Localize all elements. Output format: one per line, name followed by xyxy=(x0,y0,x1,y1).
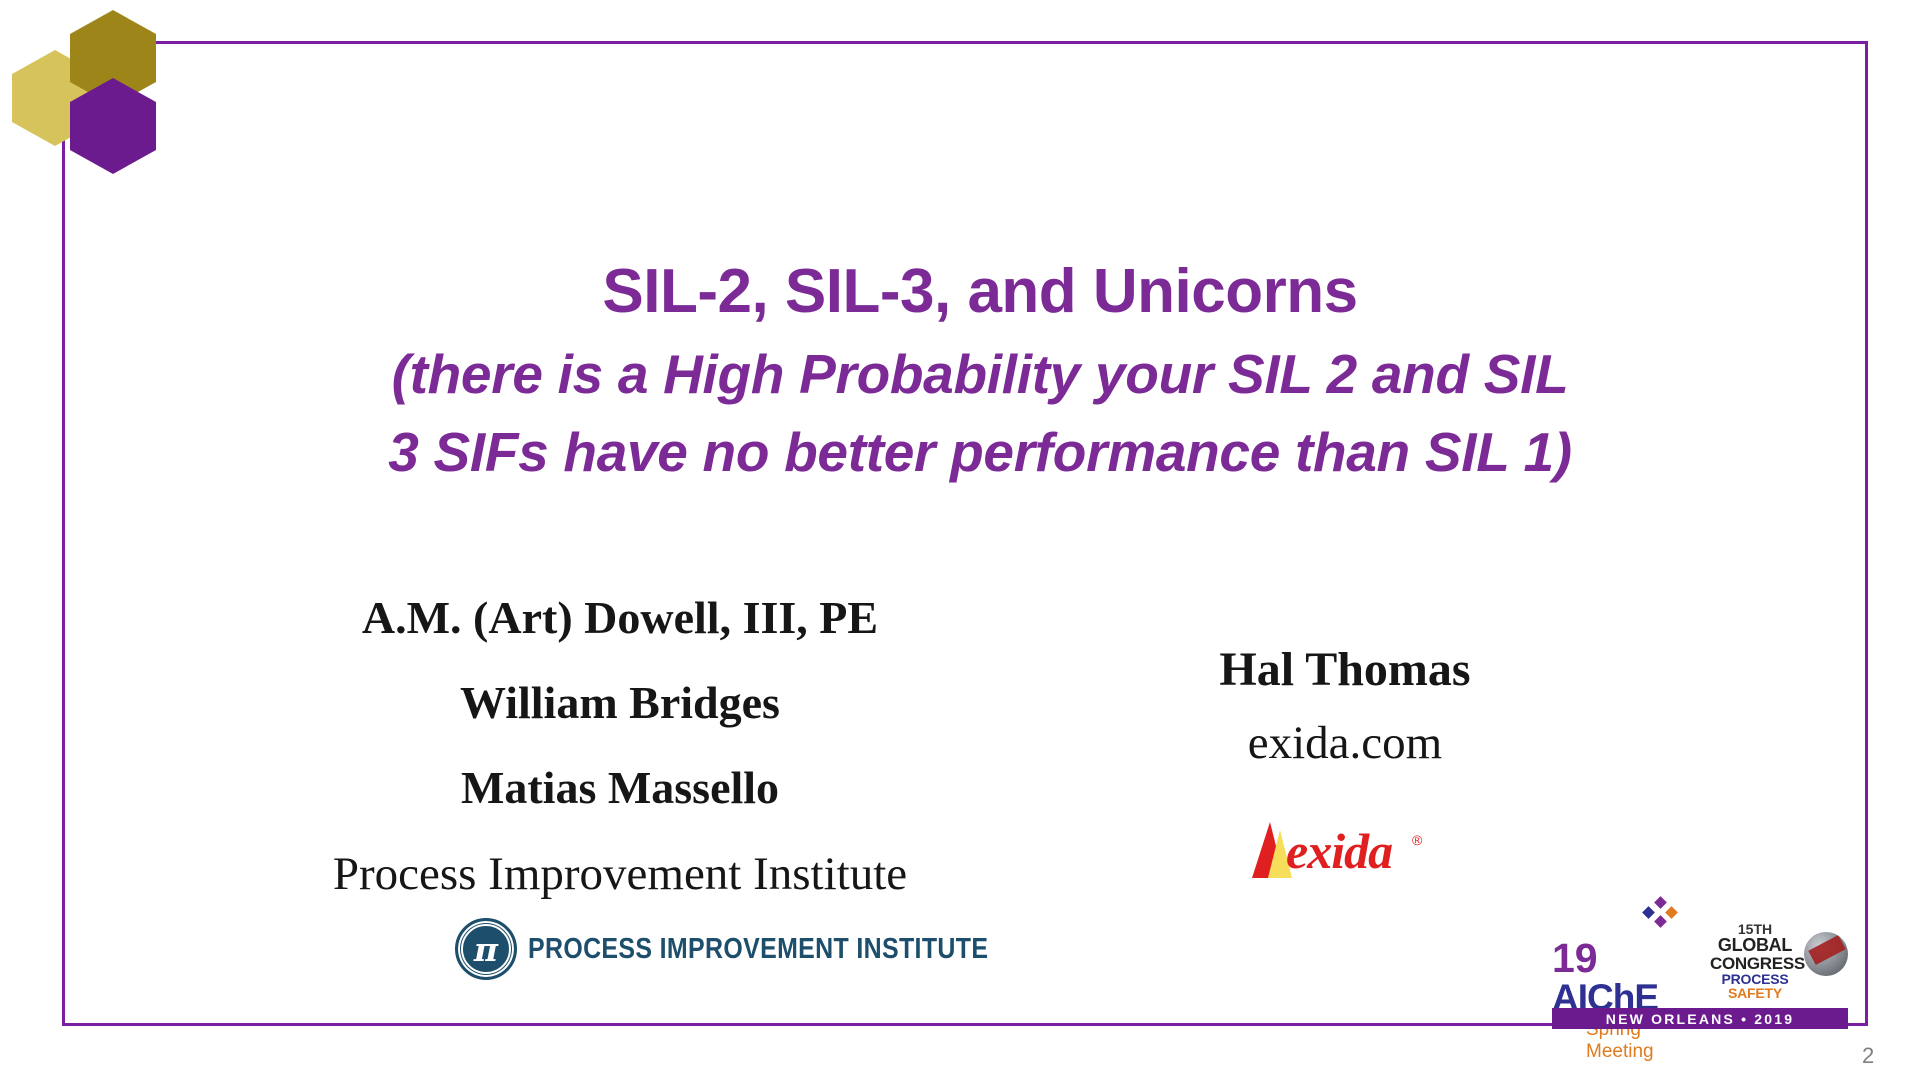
subtitle-line-1: (there is a High Probability your SIL 2 … xyxy=(175,335,1785,413)
organization-name: Process Improvement Institute xyxy=(215,830,1025,918)
aiche-diamond-cluster-icon xyxy=(1644,898,1678,922)
pi-symbol-icon: π xyxy=(455,918,517,980)
pii-logo-text: PROCESS IMPROVEMENT INSTITUTE xyxy=(528,933,988,966)
aiche-spring-meeting-logo: 19AIChE Spring Meeting xyxy=(1552,938,1702,1063)
congress-safety-label: SAFETY xyxy=(1710,986,1800,1000)
conference-location-bar: NEW ORLEANS • 2019 xyxy=(1552,1008,1848,1029)
subtitle-line-2: 3 SIFs have no better performance than S… xyxy=(175,413,1785,491)
pi-glyph: π xyxy=(474,933,498,966)
authors-right-column: Hal Thomas exida.com xyxy=(1050,640,1640,786)
exida-wordmark: exida xyxy=(1286,826,1392,876)
frame-border-left xyxy=(62,100,65,1026)
company-website: exida.com xyxy=(1050,700,1640,786)
congress-global-label: GLOBAL xyxy=(1710,936,1800,954)
process-improvement-institute-logo: π PROCESS IMPROVEMENT INSTITUTE xyxy=(455,918,1063,980)
author-name: A.M. (Art) Dowell, III, PE xyxy=(215,575,1025,660)
globe-sweep xyxy=(1808,935,1846,965)
frame-border-right xyxy=(1865,41,1868,1026)
author-name: Hal Thomas xyxy=(1050,640,1640,700)
slide-canvas: SIL-2, SIL-3, and Unicorns (there is a H… xyxy=(0,0,1920,1080)
author-name: Matias Massello xyxy=(215,745,1025,830)
title-block: SIL-2, SIL-3, and Unicorns (there is a H… xyxy=(175,255,1785,491)
globe-icon xyxy=(1804,932,1848,976)
congress-edition: 15TH xyxy=(1710,922,1800,936)
congress-process-label: PROCESS xyxy=(1710,972,1800,986)
author-name: William Bridges xyxy=(215,660,1025,745)
slide-title: SIL-2, SIL-3, and Unicorns xyxy=(175,255,1785,329)
exida-logo: exida ® xyxy=(1252,820,1452,882)
frame-border-top xyxy=(138,41,1868,44)
slide-subtitle: (there is a High Probability your SIL 2 … xyxy=(175,335,1785,491)
authors-left-column: A.M. (Art) Dowell, III, PE William Bridg… xyxy=(215,575,1025,918)
registered-trademark-icon: ® xyxy=(1412,832,1422,848)
conference-year-number: 19 xyxy=(1552,938,1598,979)
conference-logo-block: 19AIChE Spring Meeting 15TH GLOBAL CONGR… xyxy=(1552,920,1852,1030)
slide-number: 2 xyxy=(1862,1043,1874,1069)
global-congress-logo: 15TH GLOBAL CONGRESS PROCESS SAFETY xyxy=(1710,922,1800,1000)
congress-label: CONGRESS xyxy=(1710,955,1800,972)
